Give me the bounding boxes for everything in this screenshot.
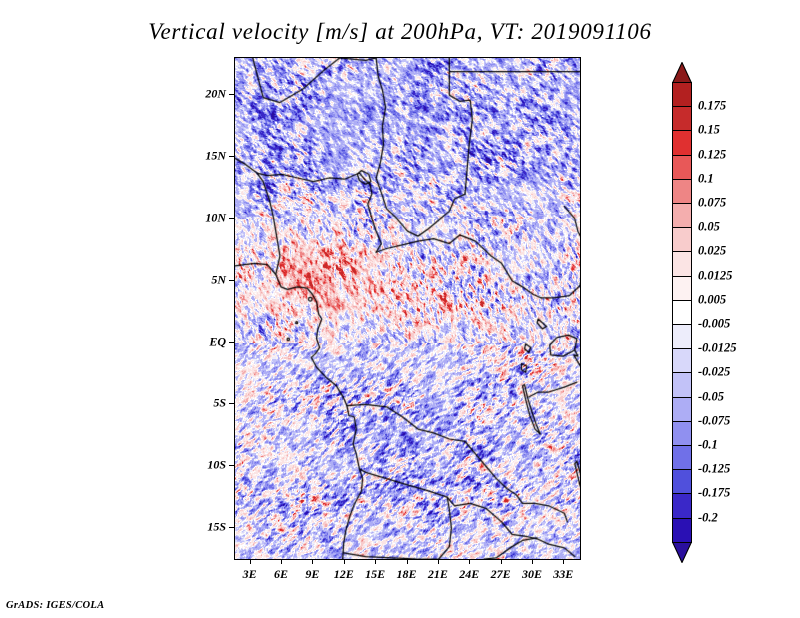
colorbar-swatch bbox=[672, 227, 692, 252]
colorbar-swatch bbox=[672, 179, 692, 204]
x-axis-tick-label: 21E bbox=[428, 567, 448, 582]
colorbar-swatch bbox=[672, 203, 692, 228]
x-axis-tick-label: 30E bbox=[522, 567, 542, 582]
x-axis-tick-mark bbox=[469, 559, 470, 564]
colorbar-swatch bbox=[672, 469, 692, 494]
x-axis-tick-label: 24E bbox=[459, 567, 479, 582]
y-axis-tick-mark bbox=[229, 465, 234, 466]
colorbar-tick-label: -0.005 bbox=[698, 317, 730, 332]
colorbar-tick-label: 0.175 bbox=[698, 99, 726, 114]
x-axis-tick-mark bbox=[563, 559, 564, 564]
colorbar-tick-label: 0.005 bbox=[698, 292, 726, 307]
country-borders-overlay bbox=[235, 58, 580, 559]
y-axis-tick-mark bbox=[229, 527, 234, 528]
x-axis-tick-mark bbox=[250, 559, 251, 564]
x-axis-tick-label: 9E bbox=[305, 567, 319, 582]
y-axis-tick-label: 15S bbox=[188, 520, 226, 535]
colorbar-swatch bbox=[672, 251, 692, 276]
y-axis-tick-mark bbox=[229, 403, 234, 404]
colorbar-tick-label: -0.075 bbox=[698, 413, 730, 428]
y-axis-tick-mark bbox=[229, 94, 234, 95]
x-axis-tick-mark bbox=[407, 559, 408, 564]
x-axis-tick-mark bbox=[312, 559, 313, 564]
colorbar-swatch bbox=[672, 155, 692, 180]
colorbar-tick-label: -0.1 bbox=[698, 438, 718, 453]
y-axis-tick-label: 5N bbox=[188, 272, 226, 287]
grads-plot-root: Vertical velocity [m/s] at 200hPa, VT: 2… bbox=[0, 0, 800, 618]
y-axis-tick-label: 10S bbox=[188, 458, 226, 473]
x-axis-tick-mark bbox=[281, 559, 282, 564]
x-axis-tick-label: 6E bbox=[274, 567, 288, 582]
colorbar-swatch bbox=[672, 421, 692, 446]
colorbar-swatch bbox=[672, 518, 692, 543]
colorbar-swatch bbox=[672, 348, 692, 373]
y-axis-tick-label: EQ bbox=[188, 334, 226, 349]
x-axis-tick-label: 15E bbox=[365, 567, 385, 582]
x-axis-tick-mark bbox=[438, 559, 439, 564]
colorbar-swatch bbox=[672, 276, 692, 301]
colorbar-swatch bbox=[672, 493, 692, 518]
colorbar-swatch bbox=[672, 300, 692, 325]
colorbar-swatch bbox=[672, 324, 692, 349]
colorbar-tick-label: -0.0125 bbox=[698, 341, 737, 356]
x-axis-tick-label: 33E bbox=[553, 567, 573, 582]
y-axis-tick-label: 20N bbox=[188, 87, 226, 102]
colorbar: 0.1750.150.1250.10.0750.050.0250.01250.0… bbox=[672, 62, 692, 558]
colorbar-tick-label: 0.075 bbox=[698, 196, 726, 211]
colorbar-tick-label: -0.025 bbox=[698, 365, 730, 380]
colorbar-tick-label: 0.1 bbox=[698, 171, 714, 186]
footer-credit: GrADS: IGES/COLA bbox=[6, 600, 104, 611]
x-axis-tick-mark bbox=[501, 559, 502, 564]
colorbar-swatch bbox=[672, 445, 692, 470]
page-title: Vertical velocity [m/s] at 200hPa, VT: 2… bbox=[0, 19, 800, 45]
y-axis-tick-mark bbox=[229, 156, 234, 157]
colorbar-tick-label: 0.125 bbox=[698, 147, 726, 162]
colorbar-tick-label: -0.175 bbox=[698, 486, 730, 501]
colorbar-swatch bbox=[672, 130, 692, 155]
colorbar-top-arrow bbox=[672, 62, 692, 82]
colorbar-tick-label: 0.025 bbox=[698, 244, 726, 259]
map-panel bbox=[234, 57, 581, 560]
colorbar-tick-label: -0.05 bbox=[698, 389, 724, 404]
colorbar-bottom-arrow bbox=[672, 542, 692, 562]
y-axis-tick-label: 10N bbox=[188, 210, 226, 225]
colorbar-tick-label: -0.2 bbox=[698, 510, 718, 525]
y-axis-tick-mark bbox=[229, 218, 234, 219]
y-axis-tick-label: 5S bbox=[188, 396, 226, 411]
x-axis-tick-label: 27E bbox=[491, 567, 511, 582]
colorbar-swatch bbox=[672, 372, 692, 397]
colorbar-tick-label: 0.15 bbox=[698, 123, 720, 138]
colorbar-tick-label: -0.125 bbox=[698, 462, 730, 477]
x-axis-tick-mark bbox=[532, 559, 533, 564]
colorbar-swatch bbox=[672, 82, 692, 107]
y-axis-tick-mark bbox=[229, 342, 234, 343]
colorbar-tick-label: 0.0125 bbox=[698, 268, 732, 283]
x-axis-tick-label: 18E bbox=[396, 567, 416, 582]
x-axis-tick-label: 12E bbox=[334, 567, 354, 582]
x-axis-tick-label: 3E bbox=[243, 567, 257, 582]
colorbar-swatch bbox=[672, 106, 692, 131]
colorbar-tick-label: 0.05 bbox=[698, 220, 720, 235]
y-axis-tick-mark bbox=[229, 280, 234, 281]
x-axis-tick-mark bbox=[375, 559, 376, 564]
colorbar-swatch bbox=[672, 397, 692, 422]
x-axis-tick-mark bbox=[344, 559, 345, 564]
y-axis-tick-label: 15N bbox=[188, 148, 226, 163]
